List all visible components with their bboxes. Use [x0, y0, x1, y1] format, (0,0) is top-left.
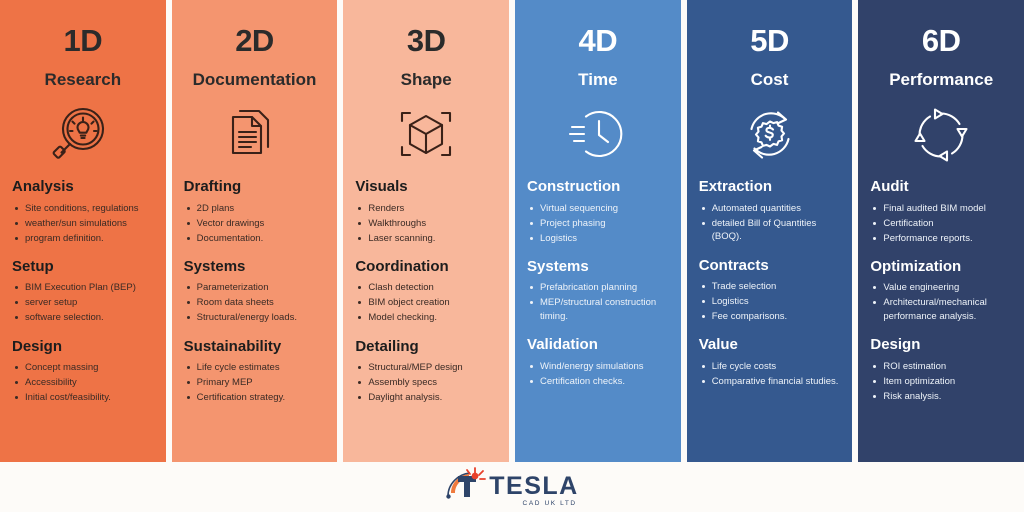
section-heading: Contracts [699, 257, 841, 274]
list-item: 2D plans [184, 202, 326, 215]
dimension-title: Performance [870, 70, 1012, 90]
section: SystemsPrefabrication planningMEP/struct… [527, 258, 669, 323]
section: DetailingStructural/MEP designAssembly s… [355, 338, 497, 405]
section: OptimizationValue engineeringArchitectur… [870, 258, 1012, 323]
list-item: Model checking. [355, 311, 497, 324]
section: ConstructionVirtual sequencingProject ph… [527, 178, 669, 245]
section-heading: Detailing [355, 338, 497, 355]
section: CoordinationClash detectionBIM object cr… [355, 258, 497, 325]
documents-icon [184, 104, 326, 166]
dimension-column-4d: 4DTimeConstructionVirtual sequencingProj… [515, 0, 681, 462]
section-heading: Sustainability [184, 338, 326, 355]
section-bullets: ParameterizationRoom data sheetsStructur… [184, 281, 326, 324]
section-heading: Setup [12, 258, 154, 275]
list-item: Site conditions, regulations [12, 202, 154, 215]
section-heading: Visuals [355, 178, 497, 195]
section-bullets: Clash detectionBIM object creationModel … [355, 281, 497, 324]
list-item: Clash detection [355, 281, 497, 294]
section: AuditFinal audited BIM modelCertificatio… [870, 178, 1012, 245]
dimension-columns: 1DResearchAnalysisSite conditions, regul… [0, 0, 1024, 462]
list-item: Accessibility [12, 376, 154, 389]
list-item: Assembly specs [355, 376, 497, 389]
section: ContractsTrade selectionLogisticsFee com… [699, 257, 841, 324]
list-item: Performance reports. [870, 232, 1012, 245]
section: DesignROI estimationItem optimizationRis… [870, 336, 1012, 403]
section-bullets: Virtual sequencingProject phasingLogisti… [527, 202, 669, 245]
list-item: software selection. [12, 311, 154, 324]
section-heading: Coordination [355, 258, 497, 275]
list-item: Structural/energy loads. [184, 311, 326, 324]
section-bullets: Structural/MEP designAssembly specsDayli… [355, 361, 497, 404]
dimension-number: 3D [355, 24, 497, 58]
cube-scan-icon [355, 104, 497, 166]
section-list: AnalysisSite conditions, regulationsweat… [12, 178, 154, 404]
dimension-number: 1D [12, 24, 154, 58]
magnifier-lightbulb-icon [12, 104, 154, 166]
section: Drafting2D plansVector drawingsDocumenta… [184, 178, 326, 245]
section-bullets: Trade selectionLogisticsFee comparisons. [699, 280, 841, 323]
section-bullets: RendersWalkthroughsLaser scanning. [355, 202, 497, 245]
circular-arrows-icon [870, 104, 1012, 166]
section-heading: Optimization [870, 258, 1012, 275]
list-item: Life cycle costs [699, 360, 841, 373]
section: SustainabilityLife cycle estimatesPrimar… [184, 338, 326, 405]
dimension-number: 5D [699, 24, 841, 58]
section-bullets: Life cycle estimatesPrimary MEPCertifica… [184, 361, 326, 404]
list-item: Life cycle estimates [184, 361, 326, 374]
section-bullets: Site conditions, regulationsweather/sun … [12, 202, 154, 245]
section: DesignConcept massingAccessibilityInitia… [12, 338, 154, 405]
list-item: Final audited BIM model [870, 202, 1012, 215]
list-item: BIM object creation [355, 296, 497, 309]
list-item: Concept massing [12, 361, 154, 374]
logo-text: TESLA CAD UK LTD [489, 474, 578, 508]
section: VisualsRendersWalkthroughsLaser scanning… [355, 178, 497, 245]
list-item: weather/sun simulations [12, 217, 154, 230]
list-item: Logistics [527, 232, 669, 245]
list-item: Initial cost/feasibility. [12, 391, 154, 404]
dimension-title: Documentation [184, 70, 326, 90]
list-item: Value engineering [870, 281, 1012, 294]
list-item: MEP/structural construction timing. [527, 296, 669, 323]
list-item: Vector drawings [184, 217, 326, 230]
list-item: Virtual sequencing [527, 202, 669, 215]
dimension-title: Research [12, 70, 154, 90]
list-item: Item optimization [870, 375, 1012, 388]
section-bullets: ROI estimationItem optimizationRisk anal… [870, 360, 1012, 403]
list-item: Documentation. [184, 232, 326, 245]
section-list: Drafting2D plansVector drawingsDocumenta… [184, 178, 326, 404]
list-item: program definition. [12, 232, 154, 245]
logo-mark-icon [445, 467, 487, 508]
section-heading: Validation [527, 336, 669, 353]
section-list: VisualsRendersWalkthroughsLaser scanning… [355, 178, 497, 404]
list-item: Structural/MEP design [355, 361, 497, 374]
list-item: Project phasing [527, 217, 669, 230]
section: ExtractionAutomated quantitiesdetailed B… [699, 178, 841, 243]
logo-tagline: CAD UK LTD [523, 501, 577, 508]
section-bullets: Value engineeringArchitectural/mechanica… [870, 281, 1012, 323]
section-bullets: Concept massingAccessibilityInitial cost… [12, 361, 154, 404]
section-heading: Construction [527, 178, 669, 195]
dimension-title: Time [527, 70, 669, 90]
list-item: Comparative financial studies. [699, 375, 841, 388]
dimension-column-5d: 5DCostExtractionAutomated quantitiesdeta… [687, 0, 853, 462]
tesla-cad-logo: TESLA CAD UK LTD [445, 467, 578, 508]
list-item: server setup [12, 296, 154, 309]
section: SystemsParameterizationRoom data sheetsS… [184, 258, 326, 325]
section-heading: Systems [527, 258, 669, 275]
logo-wordmark: TESLA [489, 474, 578, 499]
section: SetupBIM Execution Plan (BEP)server setu… [12, 258, 154, 325]
list-item: Certification strategy. [184, 391, 326, 404]
dimension-column-2d: 2DDocumentationDrafting2D plansVector dr… [172, 0, 338, 462]
bim-dimensions-infographic: 1DResearchAnalysisSite conditions, regul… [0, 0, 1024, 512]
list-item: Daylight analysis. [355, 391, 497, 404]
dimension-column-1d: 1DResearchAnalysisSite conditions, regul… [0, 0, 166, 462]
list-item: Certification [870, 217, 1012, 230]
list-item: BIM Execution Plan (BEP) [12, 281, 154, 294]
section-bullets: Automated quantitiesdetailed Bill of Qua… [699, 202, 841, 244]
gear-dollar-cycle-icon [699, 104, 841, 166]
list-item: Prefabrication planning [527, 281, 669, 294]
section-bullets: Life cycle costsComparative financial st… [699, 360, 841, 388]
list-item: detailed Bill of Quantities (BOQ). [699, 217, 841, 244]
section-list: ExtractionAutomated quantitiesdetailed B… [699, 178, 841, 388]
section-heading: Design [12, 338, 154, 355]
list-item: Laser scanning. [355, 232, 497, 245]
section-bullets: Final audited BIM modelCertificationPerf… [870, 202, 1012, 245]
list-item: Risk analysis. [870, 390, 1012, 403]
list-item: Wind/energy simulations [527, 360, 669, 373]
section-heading: Drafting [184, 178, 326, 195]
section-heading: Value [699, 336, 841, 353]
footer: TESLA CAD UK LTD [0, 462, 1024, 512]
section-bullets: Prefabrication planningMEP/structural co… [527, 281, 669, 323]
dimension-number: 4D [527, 24, 669, 58]
dimension-title: Cost [699, 70, 841, 90]
list-item: Room data sheets [184, 296, 326, 309]
list-item: Parameterization [184, 281, 326, 294]
section-heading: Audit [870, 178, 1012, 195]
list-item: Fee comparisons. [699, 310, 841, 323]
section: ValueLife cycle costsComparative financi… [699, 336, 841, 388]
dimension-number: 2D [184, 24, 326, 58]
section-heading: Extraction [699, 178, 841, 195]
section: AnalysisSite conditions, regulationsweat… [12, 178, 154, 245]
clock-speed-icon [527, 104, 669, 166]
section-heading: Systems [184, 258, 326, 275]
list-item: Logistics [699, 295, 841, 308]
section-list: AuditFinal audited BIM modelCertificatio… [870, 178, 1012, 403]
section-heading: Analysis [12, 178, 154, 195]
section-list: ConstructionVirtual sequencingProject ph… [527, 178, 669, 388]
list-item: Certification checks. [527, 375, 669, 388]
list-item: Walkthroughs [355, 217, 497, 230]
list-item: Architectural/mechanical performance ana… [870, 296, 1012, 323]
section-heading: Design [870, 336, 1012, 353]
dimension-column-6d: 6DPerformanceAuditFinal audited BIM mode… [858, 0, 1024, 462]
list-item: ROI estimation [870, 360, 1012, 373]
dimension-title: Shape [355, 70, 497, 90]
section: ValidationWind/energy simulationsCertifi… [527, 336, 669, 388]
dimension-column-3d: 3DShapeVisualsRendersWalkthroughsLaser s… [343, 0, 509, 462]
list-item: Automated quantities [699, 202, 841, 215]
dimension-number: 6D [870, 24, 1012, 58]
list-item: Trade selection [699, 280, 841, 293]
list-item: Renders [355, 202, 497, 215]
section-bullets: 2D plansVector drawingsDocumentation. [184, 202, 326, 245]
section-bullets: BIM Execution Plan (BEP)server setupsoft… [12, 281, 154, 324]
list-item: Primary MEP [184, 376, 326, 389]
section-bullets: Wind/energy simulationsCertification che… [527, 360, 669, 388]
